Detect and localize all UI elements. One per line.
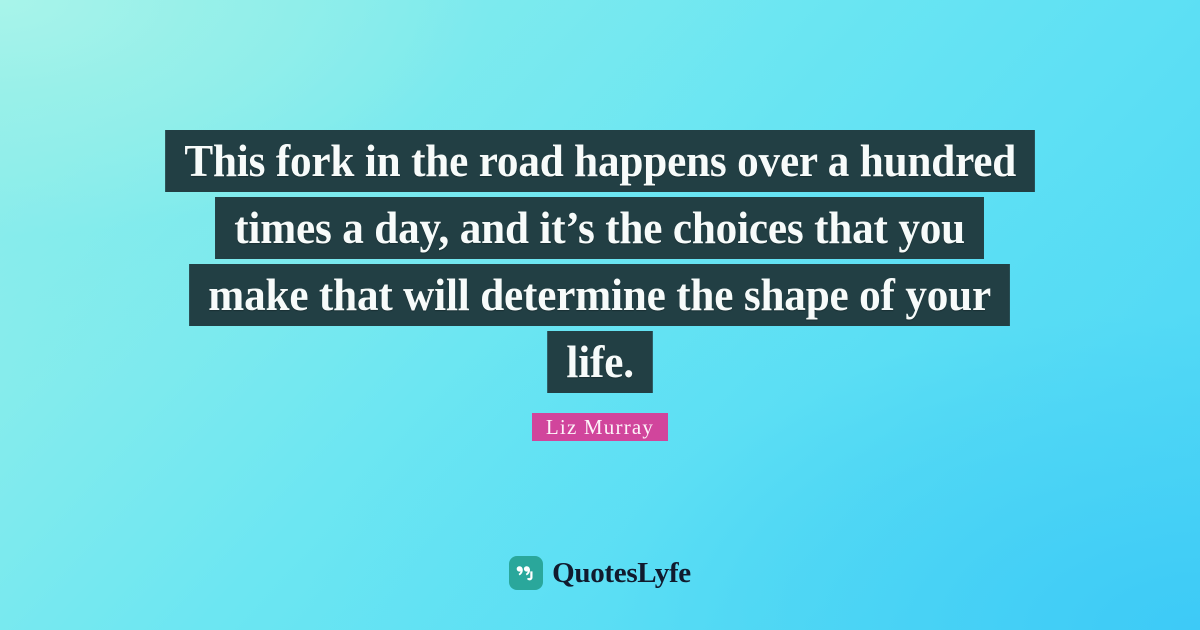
author-attribution-row: Liz Murray: [0, 413, 1200, 441]
quote-line: times a day, and it’s the choices that y…: [0, 197, 1200, 259]
quote-text-block: This fork in the road happens over a hun…: [0, 130, 1200, 398]
quote-line-text: times a day, and it’s the choices that y…: [215, 197, 984, 259]
quote-mark-icon: [509, 556, 543, 590]
brand-logo: QuotesLyfe: [0, 556, 1200, 590]
author-name-badge: Liz Murray: [532, 413, 668, 441]
quote-line-text: This fork in the road happens over a hun…: [165, 130, 1035, 192]
quote-line-text: life.: [547, 331, 653, 393]
quote-line-text: make that will determine the shape of yo…: [189, 264, 1010, 326]
quote-line: life.: [0, 331, 1200, 393]
brand-wordmark: QuotesLyfe: [552, 556, 691, 590]
quote-line: make that will determine the shape of yo…: [0, 264, 1200, 326]
quote-card: This fork in the road happens over a hun…: [0, 0, 1200, 630]
quote-line: This fork in the road happens over a hun…: [0, 130, 1200, 192]
